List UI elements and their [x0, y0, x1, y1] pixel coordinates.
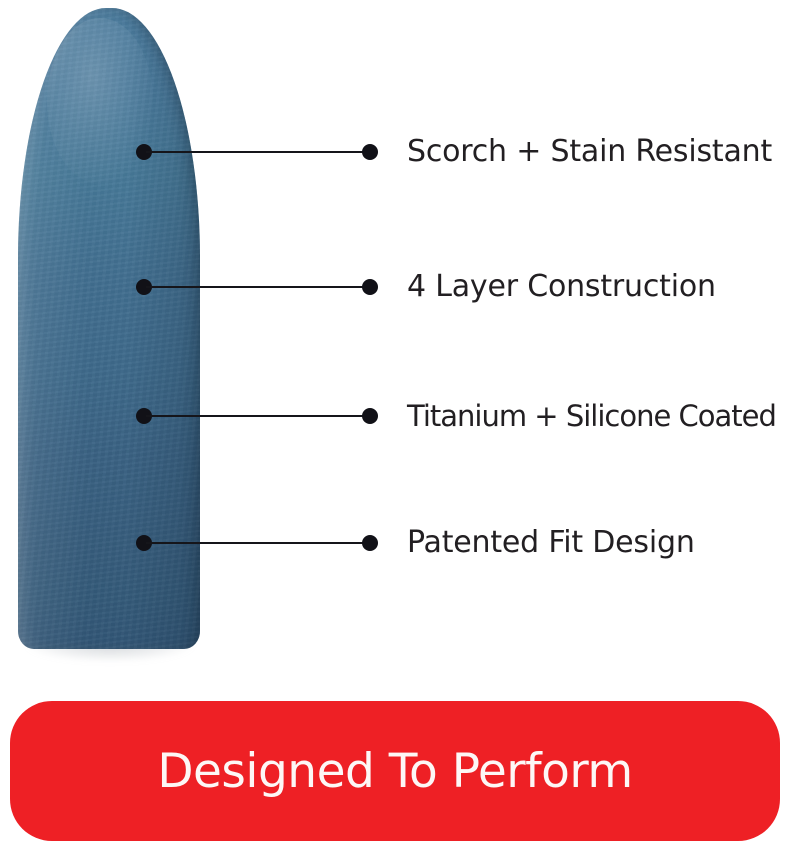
callout-leader-line [146, 415, 371, 417]
tagline-banner: Designed To Perform [10, 701, 780, 841]
callout-end-dot-icon [362, 408, 378, 424]
callout-row: Titanium + Silicone Coated [0, 396, 790, 436]
callout-row: Patented Fit Design [0, 523, 790, 563]
callout-end-dot-icon [362, 279, 378, 295]
callout-label-patented-fit-design: Patented Fit Design [407, 523, 695, 563]
callout-label-4-layer-construction: 4 Layer Construction [407, 267, 716, 307]
callout-label-scorch-stain-resistant: Scorch + Stain Resistant [407, 132, 772, 172]
callout-end-dot-icon [362, 144, 378, 160]
callout-leader-line [146, 542, 371, 544]
tagline-text: Designed To Perform [157, 748, 632, 795]
callout-leader-line [146, 151, 371, 153]
product-feature-infographic: Scorch + Stain Resistant 4 Layer Constru… [0, 0, 790, 859]
callout-row: Scorch + Stain Resistant [0, 132, 790, 172]
callout-leader-line [146, 286, 371, 288]
feature-callout-list: Scorch + Stain Resistant 4 Layer Constru… [0, 0, 790, 690]
callout-end-dot-icon [362, 535, 378, 551]
callout-row: 4 Layer Construction [0, 267, 790, 307]
callout-label-titanium-silicone-coated: Titanium + Silicone Coated [407, 396, 776, 436]
